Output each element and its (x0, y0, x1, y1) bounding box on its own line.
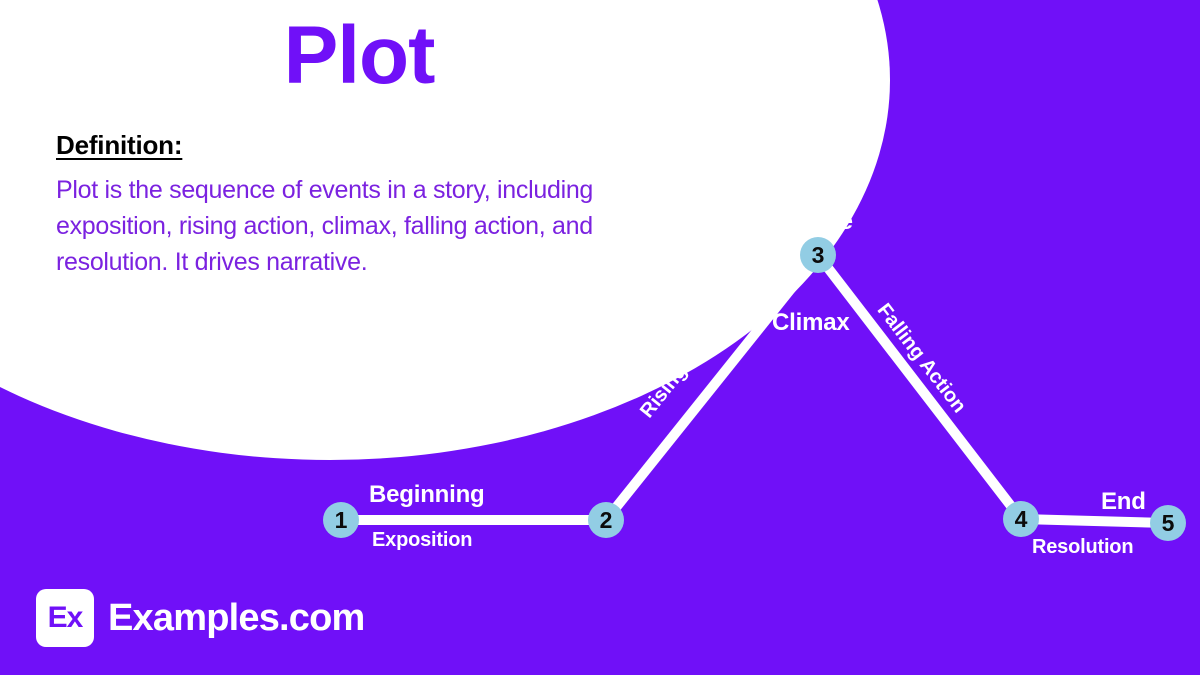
plot-node-2-label: 2 (600, 507, 613, 534)
definition-heading: Definition: (56, 130, 626, 160)
label-end: End (1101, 488, 1146, 516)
plot-node-4-label: 4 (1015, 506, 1028, 533)
label-exposition: Exposition (372, 529, 472, 552)
label-beginning: Beginning (369, 481, 485, 509)
label-climax: Climax (772, 309, 850, 337)
label-resolution: Resolution (1032, 536, 1133, 559)
examples-logo[interactable]: Ex Examples.com (36, 589, 365, 647)
plot-node-2[interactable]: 2 (588, 502, 624, 538)
segment-3-4 (818, 255, 1021, 519)
logo-wordmark: Examples.com (108, 597, 365, 640)
plot-node-5[interactable]: 5 (1150, 505, 1186, 541)
plot-node-4[interactable]: 4 (1003, 501, 1039, 537)
page-title: Plot (0, 4, 718, 108)
definition-body: Plot is the sequence of events in a stor… (56, 172, 626, 280)
infographic-canvas: Plot Definition: Plot is the sequence of… (0, 0, 1200, 675)
segment-2-3 (606, 255, 818, 520)
definition-block: Definition: Plot is the sequence of even… (56, 130, 626, 280)
segment-4-5 (1021, 519, 1168, 523)
plot-node-1[interactable]: 1 (323, 502, 359, 538)
logo-mark-text: Ex (48, 601, 83, 635)
label-middle: Middle (778, 208, 853, 236)
logo-mark-icon: Ex (36, 589, 94, 647)
plot-node-1-label: 1 (335, 507, 348, 534)
plot-node-5-label: 5 (1162, 510, 1175, 537)
plot-node-3-label: 3 (812, 242, 825, 269)
plot-node-3[interactable]: 3 (800, 237, 836, 273)
